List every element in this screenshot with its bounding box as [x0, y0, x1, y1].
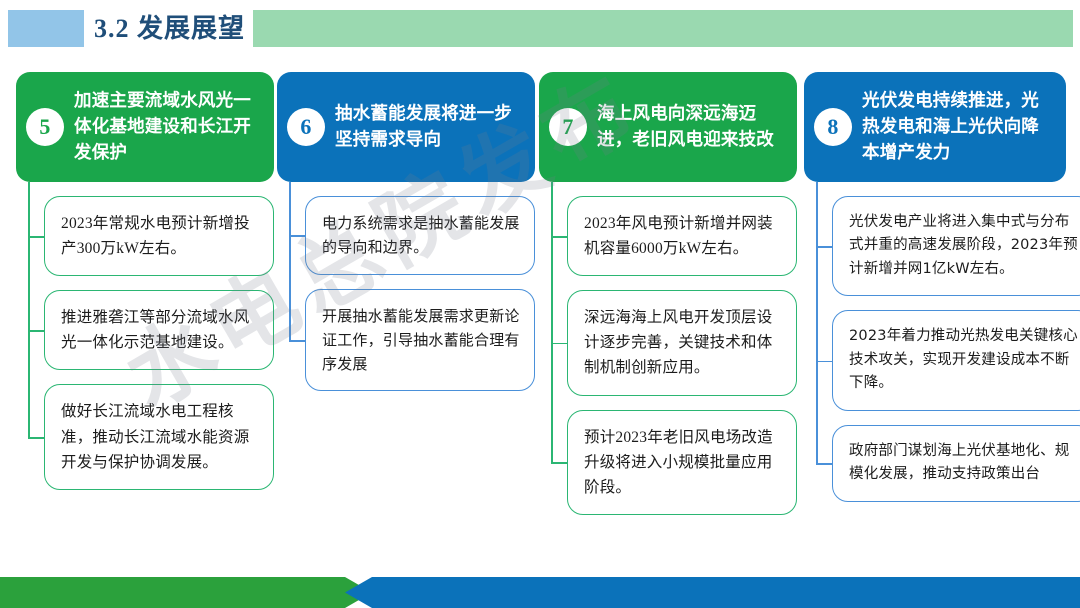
- leaf-box[interactable]: 政府部门谋划海上光伏基地化、规模化发展，推动支持政策出台: [832, 425, 1080, 502]
- branch-leaf-list: 光伏发电产业将进入集中式与分布式并重的高速发展阶段，2023年预计新增并网1亿k…: [804, 196, 1062, 502]
- connector-trunk: [816, 196, 818, 463]
- connector-elbow: [551, 343, 567, 345]
- branch-header-5[interactable]: 5加速主要流域水风光一体化基地建设和长江开发保护: [16, 72, 274, 182]
- leaf-box[interactable]: 开展抽水蓄能发展需求更新论证工作，引导抽水蓄能合理有序发展: [305, 289, 535, 392]
- connector-stub: [28, 182, 30, 196]
- leaf-box[interactable]: 预计2023年老旧风电场改造升级将进入小规模批量应用阶段。: [567, 410, 797, 515]
- connector-trunk: [289, 196, 291, 340]
- branch-header-label: 海上风电向深远海迈进，老旧风电迎来技改: [597, 101, 783, 153]
- connector-stub: [289, 182, 291, 196]
- connector-trunk: [28, 196, 30, 437]
- branch-header-6[interactable]: 6抽水蓄能发展将进一步坚持需求导向: [277, 72, 535, 182]
- leaf-box[interactable]: 光伏发电产业将进入集中式与分布式并重的高速发展阶段，2023年预计新增并网1亿k…: [832, 196, 1080, 296]
- branch-number-badge: 8: [814, 108, 852, 146]
- branch-number-badge: 5: [26, 108, 64, 146]
- page-title: 3.2 发展展望: [94, 8, 245, 45]
- page-header: 3.2 发展展望: [0, 0, 1080, 56]
- leaf-box[interactable]: 2023年着力推动光热发电关键核心技术攻关，实现开发建设成本不断下降。: [832, 310, 1080, 410]
- connector-elbow: [28, 236, 44, 238]
- connector-stub: [551, 182, 553, 196]
- leaf-box[interactable]: 2023年风电预计新增并网装机容量6000万kW左右。: [567, 196, 797, 276]
- leaf-box[interactable]: 推进雅砻江等部分流域水风光一体化示范基地建设。: [44, 290, 274, 370]
- leaf-box[interactable]: 电力系统需求是抽水蓄能发展的导向和边界。: [305, 196, 535, 275]
- connector-elbow: [28, 437, 44, 439]
- branch-header-8[interactable]: 8光伏发电持续推进，光热发电和海上光伏向降本增产发力: [804, 72, 1066, 182]
- branch-header-label: 光伏发电持续推进，光热发电和海上光伏向降本增产发力: [862, 88, 1052, 166]
- branch-leaf-list: 2023年风电预计新增并网装机容量6000万kW左右。深远海海上风电开发顶层设计…: [539, 196, 797, 515]
- branch-number-badge: 7: [549, 108, 587, 146]
- branch-header-label: 加速主要流域水风光一体化基地建设和长江开发保护: [74, 88, 260, 166]
- connector-elbow: [28, 330, 44, 332]
- connector-elbow: [816, 246, 832, 248]
- connector-elbow: [551, 236, 567, 238]
- branch-column-6: 6抽水蓄能发展将进一步坚持需求导向电力系统需求是抽水蓄能发展的导向和边界。开展抽…: [277, 72, 535, 405]
- connector-elbow: [816, 463, 832, 465]
- connector-elbow: [289, 340, 305, 342]
- connector-elbow: [816, 361, 832, 363]
- leaf-box[interactable]: 深远海海上风电开发顶层设计逐步完善，关键技术和体制机制创新应用。: [567, 290, 797, 395]
- leaf-box[interactable]: 做好长江流域水电工程核准，推动长江流域水能资源开发与保护协调发展。: [44, 384, 274, 489]
- header-accent-green: [253, 10, 1073, 47]
- header-accent-blue: [8, 10, 84, 47]
- branch-header-label: 抽水蓄能发展将进一步坚持需求导向: [335, 101, 521, 153]
- footer-bar-blue-segment: [345, 577, 1080, 608]
- connector-stub: [816, 182, 818, 196]
- connector-elbow: [289, 235, 305, 237]
- connector-elbow: [551, 462, 567, 464]
- leaf-box[interactable]: 2023年常规水电预计新增投产300万kW左右。: [44, 196, 274, 276]
- branch-column-8: 8光伏发电持续推进，光热发电和海上光伏向降本增产发力光伏发电产业将进入集中式与分…: [804, 72, 1062, 516]
- branch-column-7: 7海上风电向深远海迈进，老旧风电迎来技改2023年风电预计新增并网装机容量600…: [539, 72, 797, 529]
- branch-number-badge: 6: [287, 108, 325, 146]
- branch-header-7[interactable]: 7海上风电向深远海迈进，老旧风电迎来技改: [539, 72, 797, 182]
- footer-bar-green-segment: [0, 577, 372, 608]
- branch-leaf-list: 电力系统需求是抽水蓄能发展的导向和边界。开展抽水蓄能发展需求更新论证工作，引导抽…: [277, 196, 535, 391]
- footer-bar: [0, 577, 1080, 608]
- branch-column-5: 5加速主要流域水风光一体化基地建设和长江开发保护2023年常规水电预计新增投产3…: [16, 72, 274, 504]
- branch-leaf-list: 2023年常规水电预计新增投产300万kW左右。推进雅砻江等部分流域水风光一体化…: [16, 196, 274, 490]
